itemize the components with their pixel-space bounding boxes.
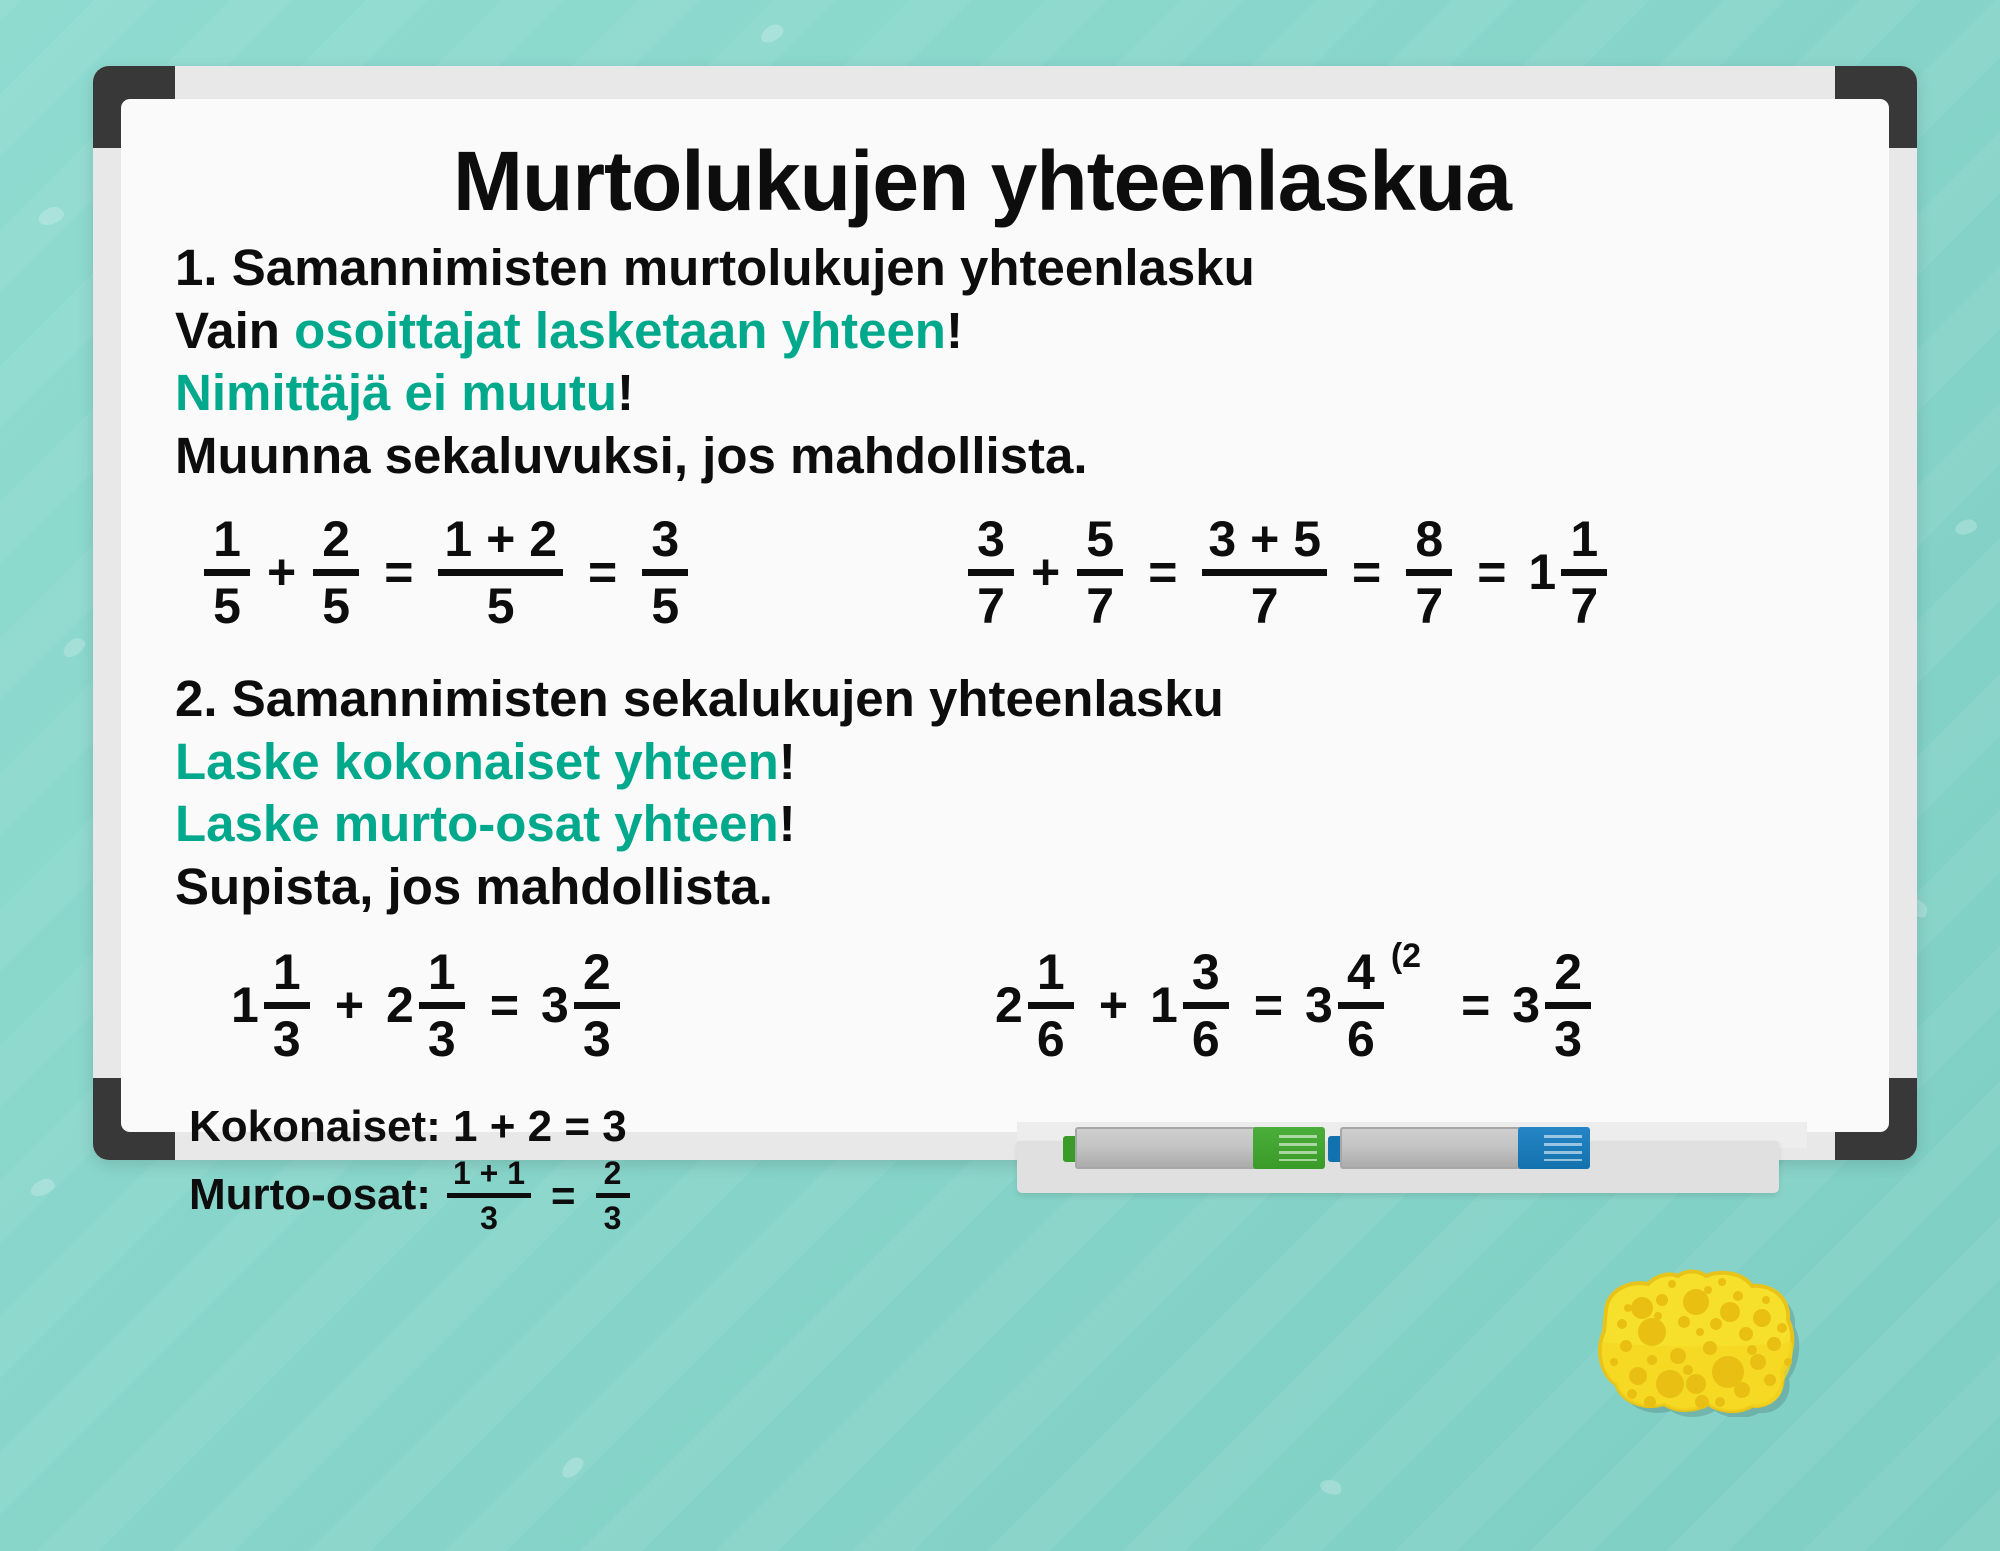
- denominator: 7: [1564, 579, 1604, 633]
- marker-cap-ribs: [1544, 1135, 1582, 1161]
- denominator: 5: [645, 579, 685, 633]
- denominator: 3: [422, 1012, 462, 1066]
- sponge-icon[interactable]: [1592, 1262, 1802, 1417]
- fraction-2-over-3: 2 3: [574, 945, 620, 1066]
- denominator: 3: [598, 1200, 628, 1236]
- section1-rule-1: Vain osoittajat lasketaan yhteen!: [175, 300, 1849, 363]
- section2-rule-1-highlight: Laske kokonaiset yhteen: [175, 733, 779, 790]
- numerator: 2: [598, 1155, 628, 1191]
- denominator: 7: [1080, 579, 1120, 633]
- fraction-bar: [968, 569, 1014, 576]
- equals-sign: =: [1232, 980, 1305, 1030]
- fraction-bar: [596, 1193, 630, 1198]
- section1-heading: 1. Samannimisten murtolukujen yhteenlask…: [175, 237, 1849, 300]
- confetti-shape: [28, 1176, 57, 1199]
- denominator: 5: [207, 579, 247, 633]
- plus-sign: +: [1017, 547, 1074, 597]
- section2-rule-2-highlight: Laske murto-osat yhteen: [175, 795, 779, 852]
- fraction-bar: [419, 1002, 465, 1009]
- fraction-bar: [438, 569, 563, 576]
- fraction-bar: [1338, 1002, 1384, 1009]
- equation-3-7-plus-5-7: 3 7 + 5 7 = 3 + 5 7: [965, 512, 1610, 633]
- page-title: Murtolukujen yhteenlaskua: [175, 139, 1849, 223]
- numerator: 1: [1031, 945, 1071, 999]
- equals-sign: =: [1439, 980, 1512, 1030]
- numerator: 3 + 5: [1202, 512, 1327, 566]
- fraction-bar: [1077, 569, 1123, 576]
- numerator: 3: [645, 512, 685, 566]
- note-fractions-equation: 1 + 1 3 = 2 3: [441, 1155, 636, 1236]
- numerator: 4: [1341, 945, 1381, 999]
- denominator: 7: [1245, 579, 1285, 633]
- fraction-bar: [1028, 1002, 1074, 1009]
- confetti-shape: [1318, 1477, 1343, 1497]
- fraction-4-over-6: 4 6: [1338, 945, 1384, 1066]
- fraction-5-over-7: 5 7: [1077, 512, 1123, 633]
- fraction-bar: [574, 1002, 620, 1009]
- fraction-bar: [264, 1002, 310, 1009]
- fraction-3-over-6: 3 6: [1183, 945, 1229, 1066]
- section1-rule-1-prefix: Vain: [175, 302, 294, 359]
- numerator: 2: [1548, 945, 1588, 999]
- denominator: 5: [316, 579, 356, 633]
- section1-rule-1-highlight: osoittajat lasketaan yhteen: [294, 302, 946, 359]
- fraction-bar: [1545, 1002, 1591, 1009]
- numerator: 1: [422, 945, 462, 999]
- numerator: 3: [971, 512, 1011, 566]
- denominator: 7: [971, 579, 1011, 633]
- confetti-shape: [1954, 517, 1979, 536]
- section2-rule-2-suffix: !: [779, 795, 796, 852]
- equals-sign: =: [1455, 547, 1528, 597]
- section1-rule-2-suffix: !: [617, 364, 634, 421]
- section1-rule-2: Nimittäjä ei muutu!: [175, 362, 1849, 425]
- mixed-whole-part: 3: [1305, 980, 1335, 1030]
- fraction-bar: [204, 569, 250, 576]
- marker-cap: [1253, 1127, 1325, 1169]
- mixed-whole-part: 2: [386, 980, 416, 1030]
- section2-rule-3: Supista, jos mahdollista.: [175, 856, 1849, 919]
- denominator: 3: [474, 1200, 504, 1236]
- whiteboard-surface: Murtolukujen yhteenlaskua 1. Samannimist…: [121, 99, 1889, 1132]
- section1-equations-row: 1 5 + 2 5 = 1 + 2 5: [175, 512, 1849, 632]
- fraction-1-over-5: 1 5: [204, 512, 250, 633]
- fraction-bar: [642, 569, 688, 576]
- lesson-content: Murtolukujen yhteenlaskua 1. Samannimist…: [175, 139, 1849, 1122]
- fraction-bar: [1561, 569, 1607, 576]
- mixed-whole-part: 1: [1528, 547, 1558, 597]
- equals-sign: =: [1330, 547, 1403, 597]
- mixed-whole-part: 1: [1150, 980, 1180, 1030]
- section1-rule-3: Muunna sekaluvuksi, jos mahdollista.: [175, 425, 1849, 488]
- denominator: 6: [1341, 1012, 1381, 1066]
- numerator: 1: [267, 945, 307, 999]
- plus-sign: +: [1077, 980, 1150, 1030]
- fraction-bar: [313, 569, 359, 576]
- numerator: 1 + 1: [447, 1155, 531, 1191]
- denominator: 6: [1186, 1012, 1226, 1066]
- section2-rule-2: Laske murto-osat yhteen!: [175, 793, 1849, 856]
- mixed-whole-part: 1: [231, 980, 261, 1030]
- denominator: 3: [577, 1012, 617, 1066]
- equals-sign: =: [566, 547, 639, 597]
- fraction-bar: [1406, 569, 1452, 576]
- fraction-1plus2-over-5: 1 + 2 5: [438, 512, 563, 633]
- denominator: 3: [1548, 1012, 1588, 1066]
- confetti-shape: [36, 204, 66, 227]
- fraction-1-over-3: 1 3: [419, 945, 465, 1066]
- mixed-whole-part: 3: [1512, 980, 1542, 1030]
- numerator: 1: [1564, 512, 1604, 566]
- numerator: 1 + 2: [438, 512, 563, 566]
- fraction-1-over-6: 1 6: [1028, 945, 1074, 1066]
- equals-sign: =: [1126, 547, 1199, 597]
- confetti-shape: [60, 634, 88, 660]
- green-marker[interactable]: [1063, 1127, 1325, 1169]
- fraction-bar: [447, 1193, 531, 1198]
- marker-cap-ribs: [1279, 1135, 1317, 1161]
- equation-mixed-sixths: 2 1 6 + 1 3 6 = 3 4: [995, 945, 1594, 1066]
- equals-sign: =: [537, 1169, 590, 1223]
- numerator: 5: [1080, 512, 1120, 566]
- note-fractions-label: Murto-osat:: [189, 1167, 431, 1223]
- numerator: 2: [316, 512, 356, 566]
- plus-sign: +: [253, 547, 310, 597]
- fraction-2-over-3: 2 3: [596, 1155, 630, 1236]
- fraction-bar: [1202, 569, 1327, 576]
- equals-sign: =: [362, 547, 435, 597]
- fraction-3plus5-over-7: 3 + 5 7: [1202, 512, 1327, 633]
- numerator: 1: [207, 512, 247, 566]
- blue-marker[interactable]: [1328, 1127, 1590, 1169]
- numerator: 2: [577, 945, 617, 999]
- denominator: 5: [481, 579, 521, 633]
- fraction-2-over-3: 2 3: [1545, 945, 1591, 1066]
- plus-sign: +: [313, 980, 386, 1030]
- section1-rule-1-suffix: !: [946, 302, 963, 359]
- equation-1-5-plus-2-5: 1 5 + 2 5 = 1 + 2 5: [201, 512, 691, 633]
- section2-heading: 2. Samannimisten sekalukujen yhteenlasku: [175, 668, 1849, 731]
- confetti-shape: [758, 21, 786, 46]
- numerator: 3: [1186, 945, 1226, 999]
- section2-equations-row: 1 1 3 + 2 1 3 = 3 2: [175, 945, 1849, 1065]
- fraction-bar: [1183, 1002, 1229, 1009]
- fraction-2-over-5: 2 5: [313, 512, 359, 633]
- mixed-whole-part: 3: [541, 980, 571, 1030]
- fraction-1-over-7: 1 7: [1561, 512, 1607, 633]
- fraction-1plus1-over-3: 1 + 1 3: [447, 1155, 531, 1236]
- mixed-whole-part: 2: [995, 980, 1025, 1030]
- equation-mixed-thirds: 1 1 3 + 2 1 3 = 3 2: [231, 945, 623, 1066]
- section2-rule-1: Laske kokonaiset yhteen!: [175, 731, 1849, 794]
- marker-barrel: [1075, 1127, 1265, 1169]
- reduction-marker: (2: [1391, 939, 1421, 973]
- section2-rule-1-suffix: !: [779, 733, 796, 790]
- fraction-3-over-7: 3 7: [968, 512, 1014, 633]
- section1-rule-2-highlight: Nimittäjä ei muutu: [175, 364, 617, 421]
- equals-sign: =: [468, 980, 541, 1030]
- marker-barrel: [1340, 1127, 1530, 1169]
- fraction-1-over-3: 1 3: [264, 945, 310, 1066]
- marker-cap: [1518, 1127, 1590, 1169]
- fraction-3-over-5: 3 5: [642, 512, 688, 633]
- numerator: 8: [1409, 512, 1449, 566]
- confetti-shape: [558, 1454, 587, 1482]
- fraction-8-over-7: 8 7: [1406, 512, 1452, 633]
- denominator: 6: [1031, 1012, 1071, 1066]
- denominator: 3: [267, 1012, 307, 1066]
- denominator: 7: [1409, 579, 1449, 633]
- whiteboard: Murtolukujen yhteenlaskua 1. Samannimist…: [93, 66, 1917, 1160]
